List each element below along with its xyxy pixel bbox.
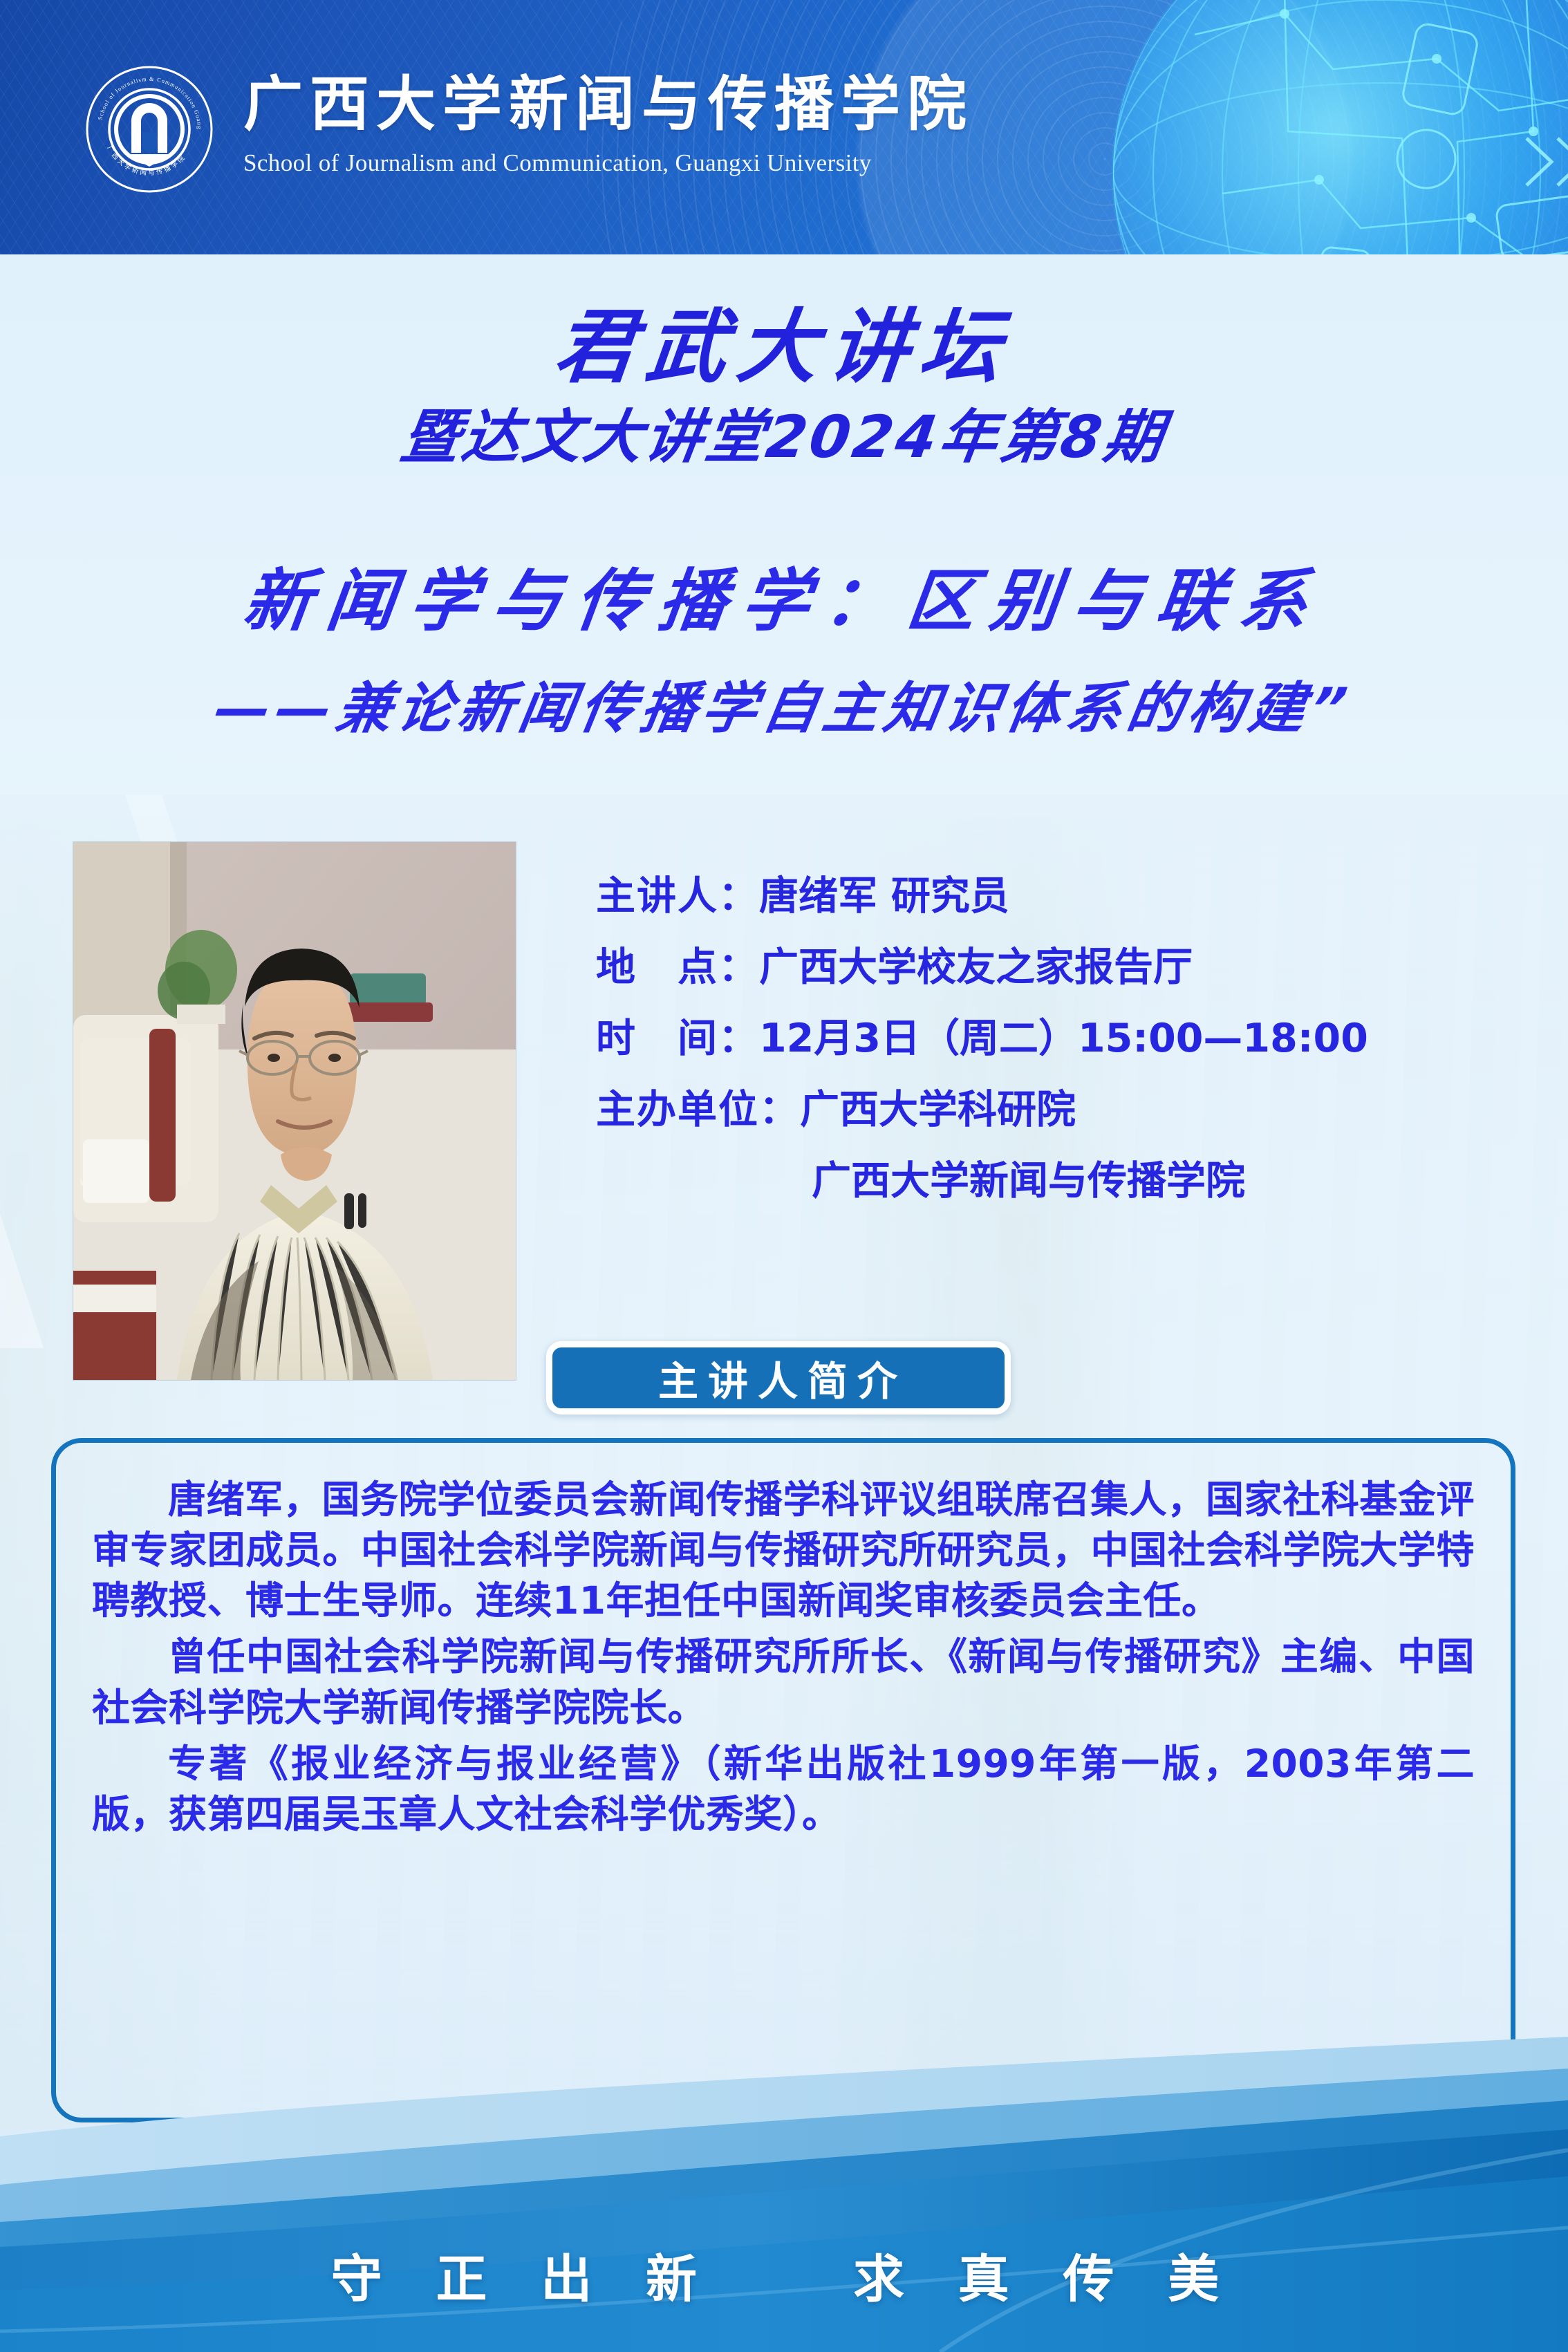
footer-slogan: 守 正 出 新 求 真 传 美 — [0, 2238, 1568, 2312]
venue-label: 地 点： — [596, 944, 759, 990]
speaker-value: 唐绪军 研究员 — [759, 873, 1009, 919]
brand-title-en: School of Journalism and Communication, … — [243, 149, 973, 177]
time-value: 12月3日（周二）15:00—18:00 — [759, 1016, 1368, 1061]
venue-value: 广西大学校友之家报告厅 — [759, 944, 1193, 990]
speaker-photo — [73, 842, 516, 1380]
poster-root: School of Journalism & Communication Gua… — [0, 0, 1568, 2352]
speaker-bio-banner-label: 主讲人简介 — [650, 1349, 907, 1407]
brand-title-cn: 广西大学新闻与传播学院 — [243, 75, 973, 134]
time-label: 时 间： — [596, 1016, 759, 1061]
school-seal-logo: School of Journalism & Communication Gua… — [86, 66, 213, 193]
info-row-organizer: 主办单位：广西大学科研院 — [596, 1090, 1368, 1130]
speaker-label: 主讲人： — [596, 873, 759, 919]
lecture-topic-line1: 新闻学与传播学：区别与联系 — [0, 546, 1568, 644]
brand-block: 广西大学新闻与传播学院 School of Journalism and Com… — [243, 75, 973, 177]
lecture-series-title: 君武大讲坛 — [0, 282, 1568, 398]
page-header: School of Journalism & Communication Gua… — [0, 0, 1568, 254]
info-row-speaker: 主讲人：唐绪军 研究员 — [596, 877, 1368, 916]
bio-paragraph: 唐绪军，国务院学位委员会新闻传播学科评议组联席召集人，国家社科基金评审专家团成员… — [92, 1475, 1475, 1626]
info-row-organizer-2: 广西大学新闻与传播学院 — [596, 1161, 1368, 1201]
organizer-label: 主办单位： — [596, 1087, 800, 1132]
organizer-value-2: 广西大学新闻与传播学院 — [812, 1158, 1245, 1204]
bio-paragraph: 专著《报业经济与报业经营》（新华出版社1999年第一版，2003年第二版，获第四… — [92, 1739, 1475, 1840]
speaker-bio-banner: 主讲人简介 — [546, 1341, 1011, 1415]
lecture-topic-line2: ——兼论新闻传播学自主知识体系的构建” — [0, 664, 1568, 744]
info-row-time: 时 间：12月3日（周二）15:00—18:00 — [596, 1019, 1368, 1058]
lecture-series-subtitle: 暨达文大讲堂2024年第8期 — [0, 391, 1568, 474]
organizer-value: 广西大学科研院 — [800, 1087, 1076, 1132]
digital-globe-icon — [1112, 0, 1568, 254]
info-row-venue: 地 点：广西大学校友之家报告厅 — [596, 948, 1368, 987]
event-info-block: 主讲人：唐绪军 研究员 地 点：广西大学校友之家报告厅 时 间：12月3日（周二… — [596, 877, 1368, 1233]
bio-paragraph: 曾任中国社会科学院新闻与传播研究所所长、《新闻与传播研究》主编、中国社会科学院大… — [92, 1632, 1475, 1733]
